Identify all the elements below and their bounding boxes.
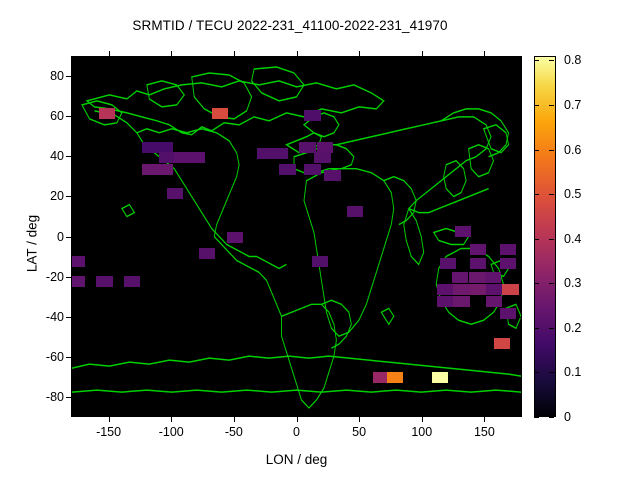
colorbar-tick (549, 60, 554, 61)
y-axis-tick (66, 76, 71, 77)
x-axis-tick (484, 51, 485, 56)
y-axis-tick (66, 156, 71, 157)
x-axis-tick-label: 50 (352, 425, 366, 439)
y-axis-tick-label: -60 (46, 350, 64, 364)
colorbar-tick (534, 372, 539, 373)
heatmap-cell (142, 164, 158, 175)
heatmap-cell (485, 272, 501, 283)
heatmap-cell (387, 372, 403, 383)
colorbar-gradient (534, 56, 556, 417)
heatmap-cell (440, 258, 456, 269)
x-axis-tick (359, 417, 360, 422)
colorbar-tick-label: 0.6 (564, 143, 581, 157)
colorbar-tick-label: 0.2 (564, 321, 581, 335)
colorbar-tick-label: 0.5 (564, 187, 581, 201)
heatmap-cell (347, 206, 363, 217)
x-axis-tick-label: 0 (293, 425, 300, 439)
y-axis-tick (66, 116, 71, 117)
y-axis-tick (517, 196, 522, 197)
heatmap-cell (312, 256, 328, 267)
x-axis-tick (422, 51, 423, 56)
y-axis-tick (517, 397, 522, 398)
heatmap-cell (500, 308, 516, 319)
heatmap-cell (486, 284, 502, 295)
colorbar-tick-label: 0.8 (564, 53, 581, 67)
x-axis-tick (171, 417, 172, 422)
heatmap-cell (257, 148, 273, 159)
y-axis-tick-label: -80 (46, 390, 64, 404)
plot-area (71, 56, 522, 417)
heatmap-cell (71, 276, 85, 287)
x-axis-title: LON / deg (71, 452, 522, 467)
heatmap-cell (432, 372, 448, 383)
x-axis-tick (109, 51, 110, 56)
heatmap-cell (304, 164, 320, 175)
y-axis-tick (517, 317, 522, 318)
heatmap-cell (452, 272, 468, 283)
y-axis-tick (66, 277, 71, 278)
y-axis-tick-label: -40 (46, 310, 64, 324)
y-axis-tick (517, 76, 522, 77)
heatmap-cell (486, 296, 502, 307)
y-axis-tick (66, 196, 71, 197)
colorbar: 00.10.20.30.40.50.60.70.8 (534, 56, 634, 417)
heatmap-cell (470, 244, 486, 255)
colorbar-tick-label: 0.3 (564, 276, 581, 290)
heatmap-cell (124, 276, 140, 287)
heatmap-cell (324, 170, 340, 181)
colorbar-tick (549, 328, 554, 329)
y-axis-tick-label: -20 (46, 270, 64, 284)
heatmap-cells (72, 57, 521, 416)
y-axis-tick (517, 116, 522, 117)
y-axis-tick (517, 277, 522, 278)
heatmap-cell (199, 248, 215, 259)
x-axis-tick (359, 51, 360, 56)
y-axis-tick (66, 397, 71, 398)
heatmap-cell (279, 164, 295, 175)
x-axis-tick (109, 417, 110, 422)
y-axis-tick (66, 317, 71, 318)
colorbar-tick (534, 239, 539, 240)
colorbar-tick-label: 0.1 (564, 365, 581, 379)
heatmap-cell (453, 296, 469, 307)
colorbar-tick (534, 328, 539, 329)
y-axis-tick (517, 156, 522, 157)
colorbar-tick (549, 239, 554, 240)
x-axis-tick (422, 417, 423, 422)
heatmap-cell (212, 108, 228, 119)
heatmap-cell (304, 110, 320, 121)
heatmap-cell (142, 142, 158, 153)
x-axis-tick-label: -100 (159, 425, 184, 439)
x-axis-tick (234, 417, 235, 422)
colorbar-tick (549, 105, 554, 106)
heatmap-cell (469, 272, 485, 283)
colorbar-tick-label: 0 (564, 410, 571, 424)
heatmap-cell (437, 284, 453, 295)
colorbar-tick (549, 417, 554, 418)
colorbar-tick (549, 194, 554, 195)
colorbar-tick (534, 60, 539, 61)
y-axis-tick-label: 80 (50, 69, 64, 83)
y-axis-tick (517, 357, 522, 358)
y-axis-tick-label: 40 (50, 149, 64, 163)
x-axis-tick (484, 417, 485, 422)
y-axis-tick (66, 237, 71, 238)
heatmap-cell (174, 152, 190, 163)
heatmap-cell (272, 148, 288, 159)
heatmap-cell (96, 276, 112, 287)
heatmap-cell (299, 142, 315, 153)
heatmap-cell (189, 152, 205, 163)
colorbar-tick (534, 417, 539, 418)
page-title: SRMTID / TECU 2022-231_41100-2022-231_41… (0, 18, 580, 33)
x-axis-tick-label: 150 (474, 425, 495, 439)
heatmap-cell (167, 188, 183, 199)
colorbar-tick (534, 283, 539, 284)
y-axis-tick-label: 60 (50, 109, 64, 123)
heatmap-cell (502, 284, 518, 295)
colorbar-tick (549, 372, 554, 373)
heatmap-cell (500, 244, 516, 255)
x-axis-tick-label: -150 (96, 425, 121, 439)
heatmap-cell (157, 164, 173, 175)
colorbar-tick (549, 283, 554, 284)
heatmap-cell (455, 226, 471, 237)
heatmap-cell (470, 258, 486, 269)
x-axis-tick (171, 51, 172, 56)
heatmap-cell (159, 152, 175, 163)
x-axis-tick (297, 417, 298, 422)
colorbar-tick (549, 150, 554, 151)
heatmap-cell (453, 284, 469, 295)
colorbar-tick (534, 194, 539, 195)
heatmap-cell (314, 152, 330, 163)
colorbar-tick-label: 0.4 (564, 232, 581, 246)
y-axis-tick-label: 20 (50, 189, 64, 203)
figure-canvas: SRMTID / TECU 2022-231_41100-2022-231_41… (0, 0, 640, 480)
x-axis-tick (234, 51, 235, 56)
heatmap-cell (71, 256, 85, 267)
heatmap-cell (99, 108, 115, 119)
colorbar-tick-label: 0.7 (564, 98, 581, 112)
x-axis-tick (297, 51, 298, 56)
y-axis-tick-label: 0 (57, 230, 64, 244)
heatmap-cell (437, 296, 453, 307)
y-axis-title: LAT / deg (25, 184, 40, 304)
y-axis-tick (66, 357, 71, 358)
colorbar-tick (534, 150, 539, 151)
y-axis-tick (517, 237, 522, 238)
heatmap-cell (494, 338, 510, 349)
heatmap-cell (470, 284, 486, 295)
x-axis-tick-label: -50 (225, 425, 243, 439)
x-axis-tick-label: 100 (411, 425, 432, 439)
colorbar-tick (534, 105, 539, 106)
heatmap-cell (227, 232, 243, 243)
heatmap-cell (500, 258, 516, 269)
